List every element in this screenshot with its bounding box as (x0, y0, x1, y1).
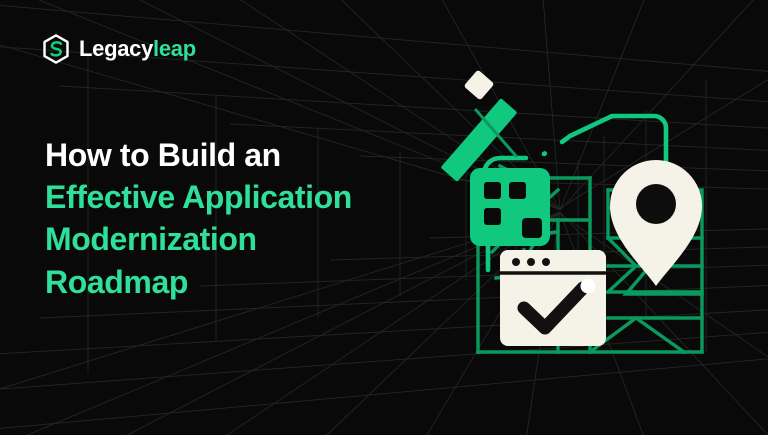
route-dot-marker (581, 279, 596, 294)
page-title: How to Build an Effective Application Mo… (45, 134, 352, 303)
brand-wordmark: Legacyleap (79, 38, 196, 60)
title-line-3: Modernization (45, 218, 352, 260)
title-line-4: Roadmap (45, 261, 352, 303)
brand-logo[interactable]: Legacyleap (42, 32, 196, 66)
roadmap-illustration (440, 60, 768, 370)
legacyleap-hexagon-s-mark (42, 34, 70, 64)
title-line-1: How to Build an (45, 134, 352, 176)
browser-checkmark-icon (500, 250, 606, 346)
brand-name-primary: Legacy (79, 36, 153, 61)
app-blocks-icon (470, 168, 550, 246)
brand-name-accent: leap (153, 36, 196, 61)
blog-title-banner: Legacyleap How to Build an Effective App… (0, 0, 768, 435)
title-line-2: Effective Application (45, 176, 352, 218)
